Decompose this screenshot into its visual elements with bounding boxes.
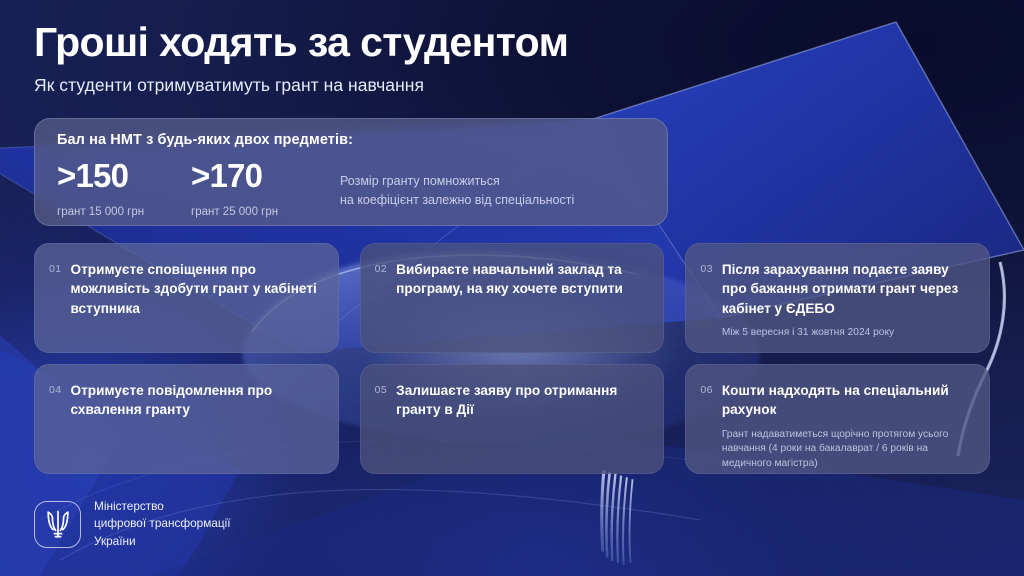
step-card-04-number: 04 xyxy=(49,381,61,463)
slide-header: Гроші ходять за студентом Як студенти от… xyxy=(34,20,734,96)
ministry-footer: Міністерство цифрової трансформації Укра… xyxy=(34,498,231,550)
step-card-06-number: 06 xyxy=(700,381,712,463)
step-card-01-title: Отримуєте сповіщення про можливість здоб… xyxy=(70,260,321,318)
step-card-01-number: 01 xyxy=(49,260,61,342)
ministry-name-line3: України xyxy=(94,533,231,550)
page-subtitle: Як студенти отримуватимуть грант на навч… xyxy=(34,75,734,96)
steps-row-1: 01 Отримуєте сповіщення про можливість з… xyxy=(34,243,990,353)
score-tier-2-value: >170 xyxy=(191,159,325,192)
step-card-06-title: Кошти надходять на спеціальний рахунок xyxy=(722,381,973,420)
ministry-name: Міністерство цифрової трансформації Укра… xyxy=(94,498,231,550)
step-card-05[interactable]: 05 Залишаєте заяву про отримання гранту … xyxy=(360,364,665,474)
step-card-01[interactable]: 01 Отримуєте сповіщення про можливість з… xyxy=(34,243,339,353)
ukraine-trident-icon xyxy=(45,509,71,540)
step-card-02-number: 02 xyxy=(375,260,387,342)
score-tier-1-value: >150 xyxy=(57,159,191,192)
slide-canvas: Гроші ходять за студентом Як студенти от… xyxy=(0,0,1024,576)
score-tier-1-grant: грант 15 000 грн xyxy=(57,206,191,218)
score-panel-heading: Бал на НМТ з будь-яких двох предметів: xyxy=(57,132,645,148)
score-tier-1: >150 грант 15 000 грн xyxy=(57,159,191,218)
step-card-06[interactable]: 06 Кошти надходять на спеціальний рахуно… xyxy=(685,364,990,474)
steps-row-2: 04 Отримуєте повідомлення про схвалення … xyxy=(34,364,990,474)
step-card-03-subtext: Між 5 вересня і 31 жовтня 2024 року xyxy=(722,326,973,341)
page-title: Гроші ходять за студентом xyxy=(34,20,734,66)
ministry-logo-badge xyxy=(34,501,81,548)
score-tier-row: >150 грант 15 000 грн >170 грант 25 000 … xyxy=(57,159,645,218)
score-requirements-panel: Бал на НМТ з будь-яких двох предметів: >… xyxy=(34,118,668,226)
score-tier-2: >170 грант 25 000 грн xyxy=(191,159,325,218)
score-tier-2-grant: грант 25 000 грн xyxy=(191,206,325,218)
step-card-05-number: 05 xyxy=(375,381,387,463)
step-card-02-title: Вибираєте навчальний заклад та програму,… xyxy=(396,260,647,299)
score-multiplier-note: Розмір гранту помножиться на коефіцієнт … xyxy=(340,172,574,210)
ministry-name-line2: цифрової трансформації xyxy=(94,515,231,532)
step-card-04-title: Отримуєте повідомлення про схвалення гра… xyxy=(70,381,321,420)
step-card-03[interactable]: 03 Після зарахування подаєте заяву про б… xyxy=(685,243,990,353)
step-card-03-number: 03 xyxy=(700,260,712,342)
ministry-name-line1: Міністерство xyxy=(94,498,231,515)
step-card-05-title: Залишаєте заяву про отримання гранту в Д… xyxy=(396,381,647,420)
step-card-04[interactable]: 04 Отримуєте повідомлення про схвалення … xyxy=(34,364,339,474)
step-card-06-subtext: Грант надаватиметься щорічно протягом ус… xyxy=(722,428,973,472)
step-card-02[interactable]: 02 Вибираєте навчальний заклад та програ… xyxy=(360,243,665,353)
score-multiplier-note-line1: Розмір гранту помножиться xyxy=(340,172,574,191)
score-multiplier-note-line2: на коефіцієнт залежно від спеціальності xyxy=(340,191,574,210)
step-card-03-title: Після зарахування подаєте заяву про бажа… xyxy=(722,260,973,318)
steps-grid: 01 Отримуєте сповіщення про можливість з… xyxy=(34,243,990,474)
